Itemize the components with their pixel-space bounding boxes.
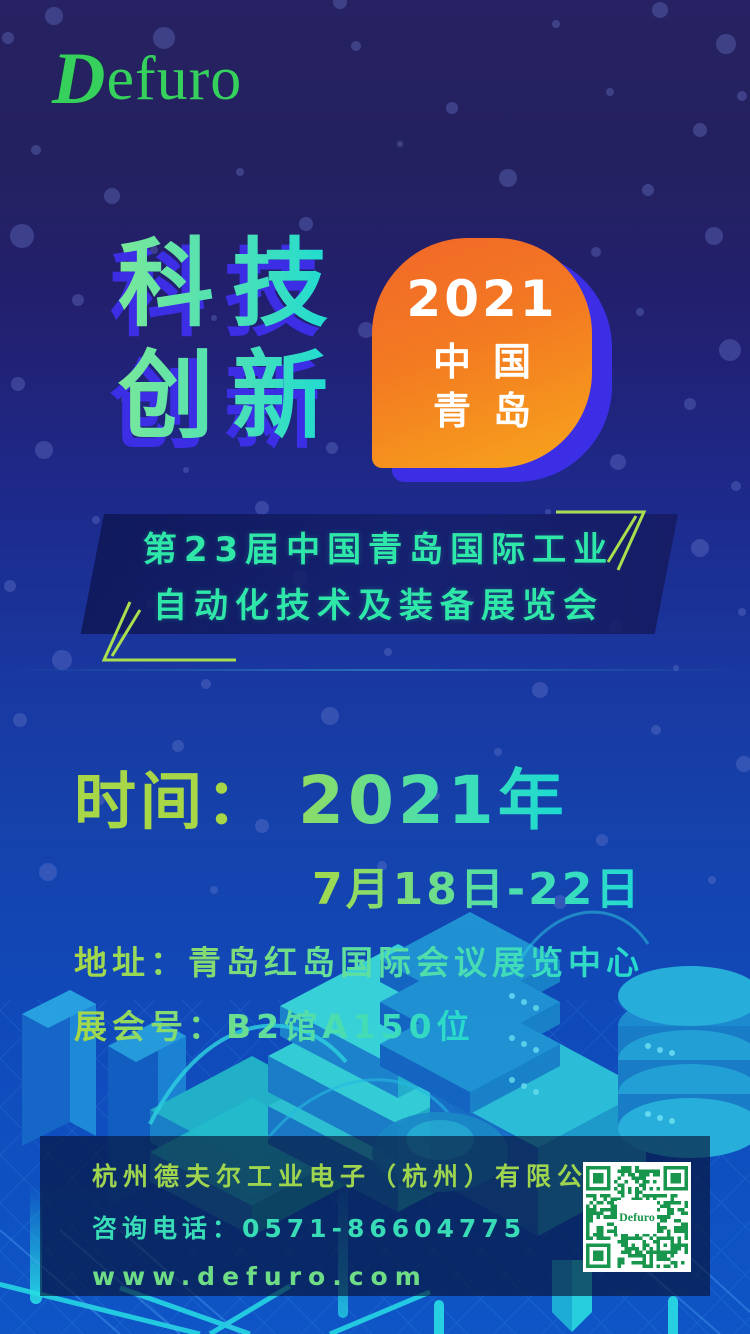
- footer-phone: 咨询电话：0571-86604775: [92, 1216, 526, 1241]
- event-date-range: 7月18日-22日: [312, 868, 642, 912]
- subtitle-line-2: 自动化技术及装备展览会: [0, 578, 750, 634]
- badge-year: 2021: [406, 274, 557, 324]
- logo-initial: D: [52, 38, 106, 120]
- headline-block: 科技 科技 创新 创新: [118, 228, 398, 452]
- headline-row-2-text: 创新: [118, 340, 346, 452]
- brand-logo[interactable]: Defuro: [52, 42, 242, 116]
- headline-row-1-text: 科技: [118, 228, 346, 340]
- footer-website: www.defuro.com: [92, 1264, 428, 1289]
- event-time-value: 2021年: [298, 762, 568, 839]
- footer-company: 杭州德夫尔工业电子（杭州）有限公司: [92, 1164, 619, 1189]
- subtitle-banner: 第23届中国青岛国际工业 自动化技术及装备展览会: [0, 500, 750, 670]
- poster-canvas: Defuro 科技 科技 创新 创新 2021 中国 青岛: [0, 0, 750, 1334]
- event-badge: 2021 中国 青岛: [372, 238, 592, 468]
- headline-row-1: 科技 科技: [118, 228, 398, 340]
- logo-wordmark: efuro: [106, 45, 242, 113]
- badge-city: 青岛: [411, 387, 553, 436]
- footer-panel: 杭州德夫尔工业电子（杭州）有限公司 咨询电话：0571-86604775 www…: [40, 1136, 710, 1296]
- subtitle-line-1: 第23届中国青岛国际工业: [0, 522, 750, 578]
- event-time-label: 时间：: [74, 765, 272, 838]
- qr-center-label: Defuro: [619, 1210, 655, 1225]
- headline-row-2: 创新 创新: [118, 340, 398, 452]
- event-booth: 展会号：B2馆A150位: [74, 1010, 475, 1043]
- event-address: 地址：青岛红岛国际会议展览中心: [74, 946, 644, 979]
- badge-country: 中国: [411, 338, 553, 387]
- subtitle-text: 第23届中国青岛国际工业 自动化技术及装备展览会: [0, 522, 750, 634]
- event-time-line: 时间：2021年: [74, 768, 568, 834]
- qr-center-logo: Defuro: [617, 1200, 657, 1234]
- qr-code[interactable]: Defuro: [583, 1162, 691, 1272]
